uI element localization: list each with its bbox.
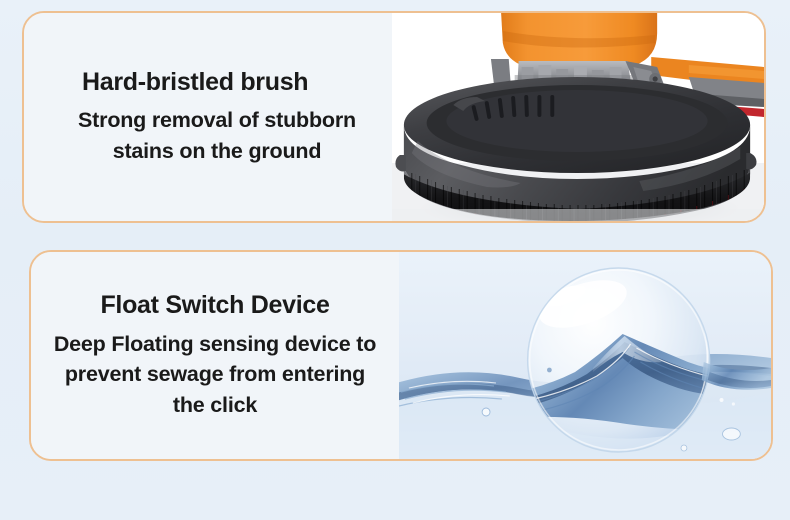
feature-card-hard-bristled-brush: Hard-bristled brush Strong removal of st… [22, 11, 766, 223]
feature-text-panel: Float Switch Device Deep Floating sensin… [31, 252, 399, 459]
card-body-text: Strong removal of stubborn stains on the… [60, 105, 380, 166]
page-background: Hard-bristled brush Strong removal of st… [0, 0, 790, 520]
feature-image-panel [392, 13, 764, 221]
card-title: Hard-bristled brush [82, 68, 308, 97]
feature-image-panel [399, 252, 771, 459]
card-body-text: Deep Floating sensing device to prevent … [51, 329, 379, 421]
feature-text-panel: Hard-bristled brush Strong removal of st… [24, 13, 392, 221]
floor-scrubber-brush-head-photo [392, 13, 764, 221]
water-sphere-wave-photo [399, 252, 771, 459]
feature-card-float-switch-device: Float Switch Device Deep Floating sensin… [29, 250, 773, 461]
card-title: Float Switch Device [100, 291, 329, 320]
